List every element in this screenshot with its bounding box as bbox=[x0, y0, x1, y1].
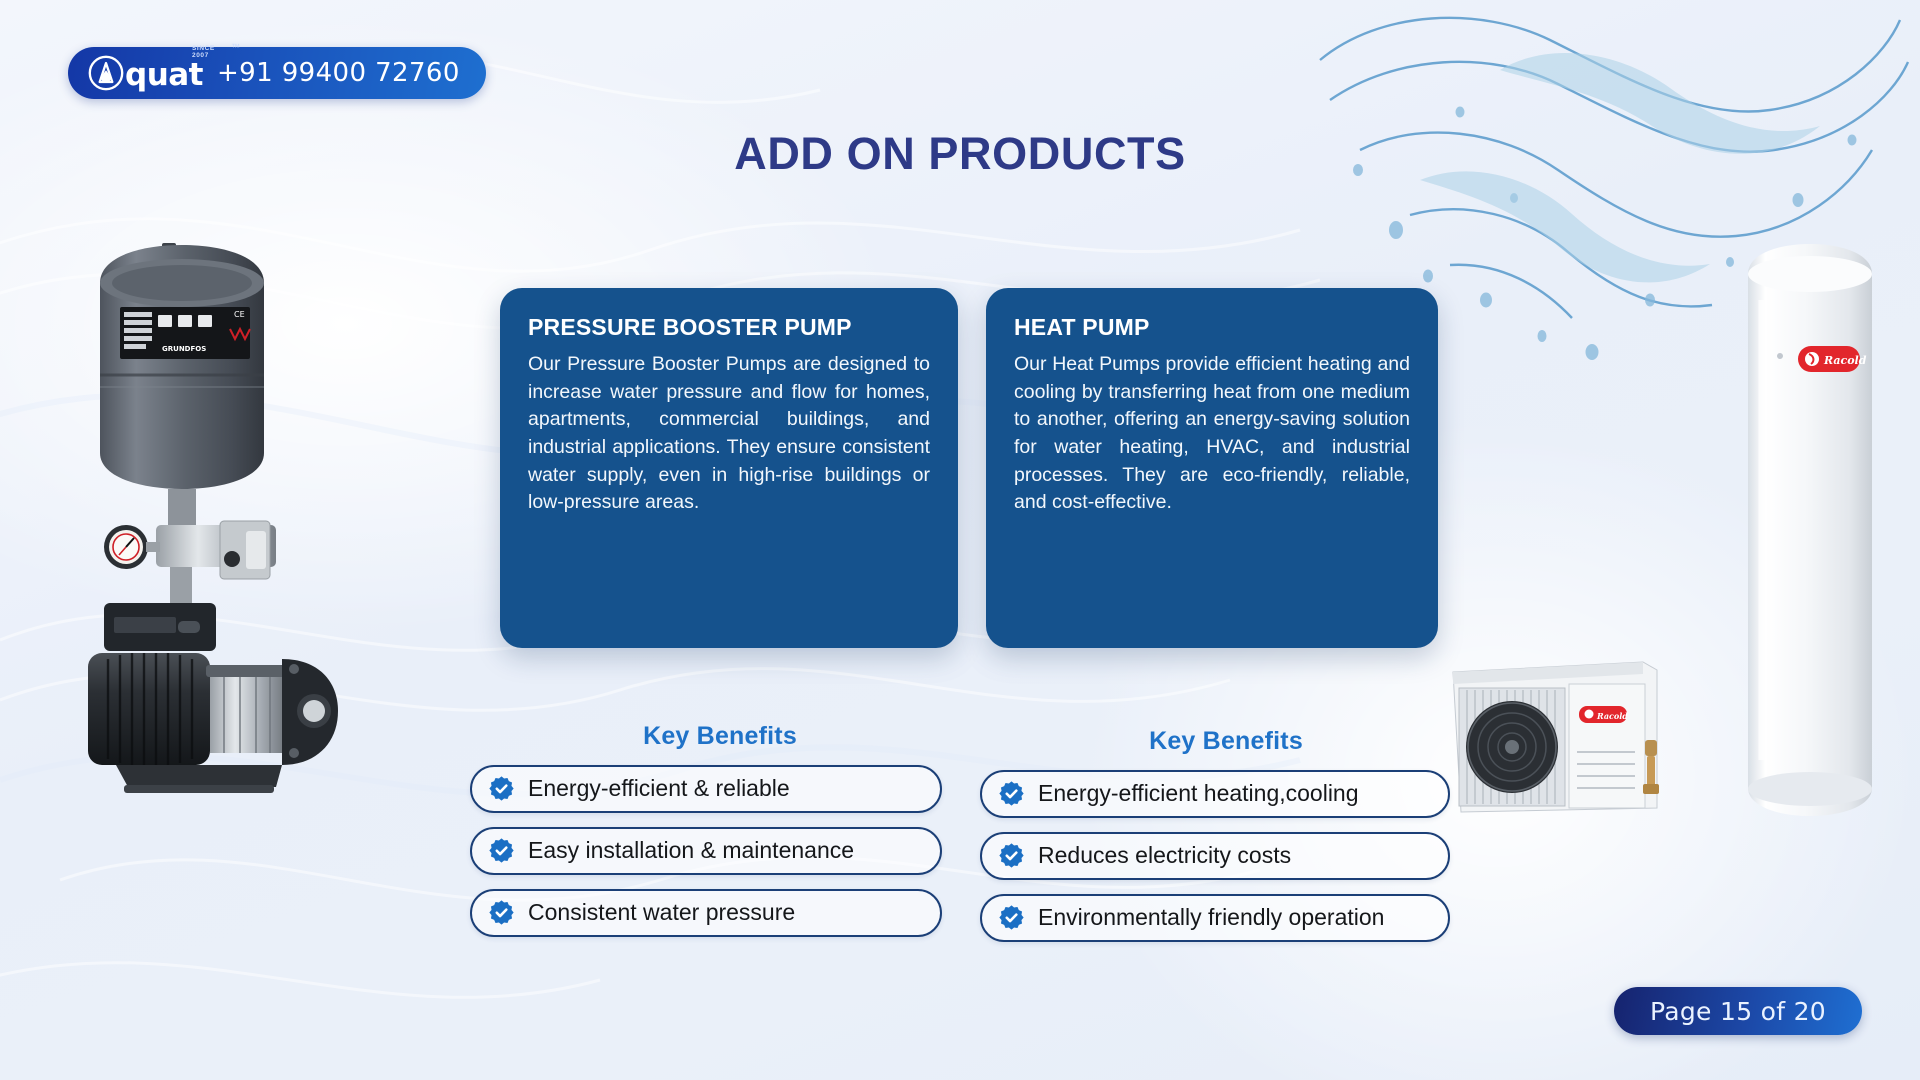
svg-text:Racold: Racold bbox=[1596, 711, 1628, 721]
droplet-a-icon bbox=[88, 55, 124, 91]
product-card-heat-pump: HEAT PUMP Our Heat Pumps provide efficie… bbox=[986, 288, 1438, 648]
benefit-label: Environmentally friendly operation bbox=[1038, 904, 1384, 930]
trademark-icon: ™ bbox=[231, 42, 240, 52]
aquat-droplet-logo: quat SINCE 2007 ™ bbox=[88, 55, 203, 91]
racold-heat-pump-outdoor-unit-image: Racold bbox=[1447, 648, 1672, 818]
card-title: PRESSURE BOOSTER PUMP bbox=[528, 314, 930, 341]
benefit-item[interactable]: Easy installation & maintenance bbox=[470, 827, 942, 875]
brand-logo-chip[interactable]: quat SINCE 2007 ™ +91 99400 72760 bbox=[68, 47, 486, 99]
page-number-badge: Page 15 of 20 bbox=[1614, 987, 1862, 1035]
benefit-label: Consistent water pressure bbox=[528, 899, 795, 925]
logo-since-text: SINCE 2007 bbox=[192, 45, 215, 59]
key-benefits-pressure-booster: Key Benefits Energy-efficient & reliable… bbox=[470, 722, 970, 951]
racold-water-heater-tank-image: Racold bbox=[1740, 240, 1880, 820]
benefit-item[interactable]: Energy-efficient & reliable bbox=[470, 765, 942, 813]
key-benefits-heading: Key Benefits bbox=[980, 727, 1472, 756]
card-description: Our Heat Pumps provide efficient heating… bbox=[1014, 351, 1410, 517]
product-card-pressure-booster-pump: PRESSURE BOOSTER PUMP Our Pressure Boost… bbox=[500, 288, 958, 648]
check-badge-icon bbox=[998, 904, 1025, 931]
card-description: Our Pressure Booster Pumps are designed … bbox=[528, 351, 930, 517]
card-title: HEAT PUMP bbox=[1014, 314, 1410, 341]
contact-phone-number[interactable]: +91 99400 72760 bbox=[217, 58, 460, 88]
svg-text:GRUNDFOS: GRUNDFOS bbox=[162, 345, 206, 353]
check-badge-icon bbox=[998, 842, 1025, 869]
benefit-label: Reduces electricity costs bbox=[1038, 842, 1291, 868]
benefit-item[interactable]: Environmentally friendly operation bbox=[980, 894, 1450, 942]
key-benefits-heading: Key Benefits bbox=[470, 722, 970, 751]
svg-text:Racold: Racold bbox=[1823, 354, 1867, 367]
check-badge-icon bbox=[488, 837, 515, 864]
benefit-item[interactable]: Reduces electricity costs bbox=[980, 832, 1450, 880]
svg-text:CE: CE bbox=[234, 310, 245, 319]
benefit-item[interactable]: Energy-efficient heating,cooling bbox=[980, 770, 1450, 818]
benefit-label: Energy-efficient heating,cooling bbox=[1038, 780, 1359, 806]
check-badge-icon bbox=[488, 899, 515, 926]
benefit-label: Easy installation & maintenance bbox=[528, 837, 854, 863]
pressure-booster-pump-image: GRUNDFOS CE bbox=[70, 225, 410, 825]
key-benefits-heat-pump: Key Benefits Energy-efficient heating,co… bbox=[980, 727, 1472, 956]
benefit-item[interactable]: Consistent water pressure bbox=[470, 889, 942, 937]
check-badge-icon bbox=[998, 780, 1025, 807]
logo-wordmark: quat bbox=[125, 60, 203, 91]
benefit-label: Energy-efficient & reliable bbox=[528, 775, 790, 801]
check-badge-icon bbox=[488, 775, 515, 802]
